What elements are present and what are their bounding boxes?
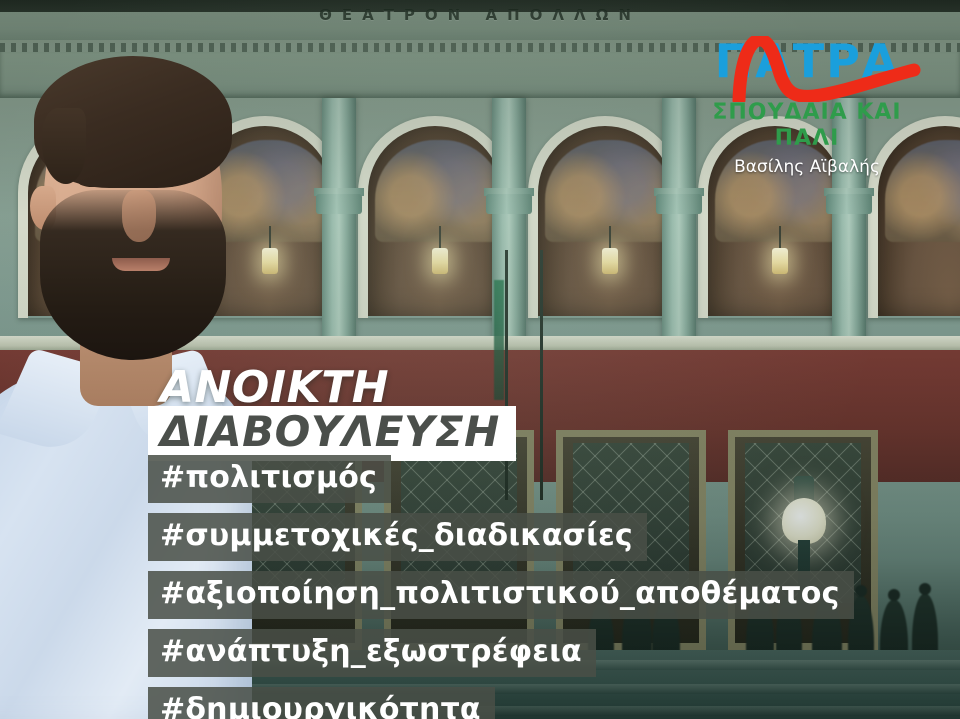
- engraved-theatre-name: ΘΕΑΤΡΟΝ ΑΠΟΛΛΩΝ: [0, 6, 960, 24]
- hair: [34, 56, 232, 188]
- hanging-lamp: [772, 248, 788, 274]
- logo-wordmark-group: ΠΑΤΡΑ: [682, 36, 932, 98]
- logo-tagline: ΣΠΟΥΔΑΙΑ ΚΑΙ ΠΑΛΙ: [682, 100, 932, 152]
- hanging-lamp: [432, 248, 448, 274]
- headline-line-diavoulefsi: ΔΙΑΒΟΥΛΕΥΣΗ: [160, 407, 500, 456]
- mouth: [112, 258, 170, 271]
- arch-moulding: [358, 116, 512, 318]
- hashtag-list: #πολιτισμός #συμμετοχικές_διαδικασίες #α…: [148, 455, 854, 719]
- headline-white-band: ΔΙΑΒΟΥΛΕΥΣΗ: [148, 406, 516, 461]
- logo-swoosh-icon: [682, 36, 932, 102]
- headline-block: ΑΝΟΙΚΤΗ ΔΙΑΒΟΥΛΕΥΣΗ: [148, 366, 516, 461]
- hashtag-label: #δημιουργικότητα: [160, 692, 481, 719]
- hashtag-item[interactable]: #δημιουργικότητα: [148, 687, 495, 719]
- hashtag-label: #πολιτισμός: [160, 460, 377, 495]
- poster-canvas: ΘΕΑΤΡΟΝ ΑΠΟΛΛΩΝ: [0, 0, 960, 719]
- patra-logo: ΠΑΤΡΑ ΣΠΟΥΔΑΙΑ ΚΑΙ ΠΑΛΙ Βασίλης Αϊβαλής: [682, 36, 932, 166]
- hashtag-item[interactable]: #συμμετοχικές_διαδικασίες: [148, 513, 647, 561]
- hanging-lamp: [602, 248, 618, 274]
- headline-line-anoikti: ΑΝΟΙΚΤΗ: [160, 366, 516, 410]
- hashtag-item[interactable]: #πολιτισμός: [148, 455, 391, 503]
- hashtag-label: #αξιοποίηση_πολιτιστικού_αποθέματος: [160, 576, 840, 611]
- hashtag-item[interactable]: #αξιοποίηση_πολιτιστικού_αποθέματος: [148, 571, 854, 619]
- logo-person-name: Βασίλης Αϊβαλής: [682, 155, 932, 179]
- hashtag-item[interactable]: #ανάπτυξη_εξωστρέφεια: [148, 629, 596, 677]
- hashtag-label: #συμμετοχικές_διαδικασίες: [160, 518, 633, 553]
- hashtag-label: #ανάπτυξη_εξωστρέφεια: [160, 634, 582, 669]
- arch-moulding: [528, 116, 682, 318]
- nose: [122, 190, 156, 242]
